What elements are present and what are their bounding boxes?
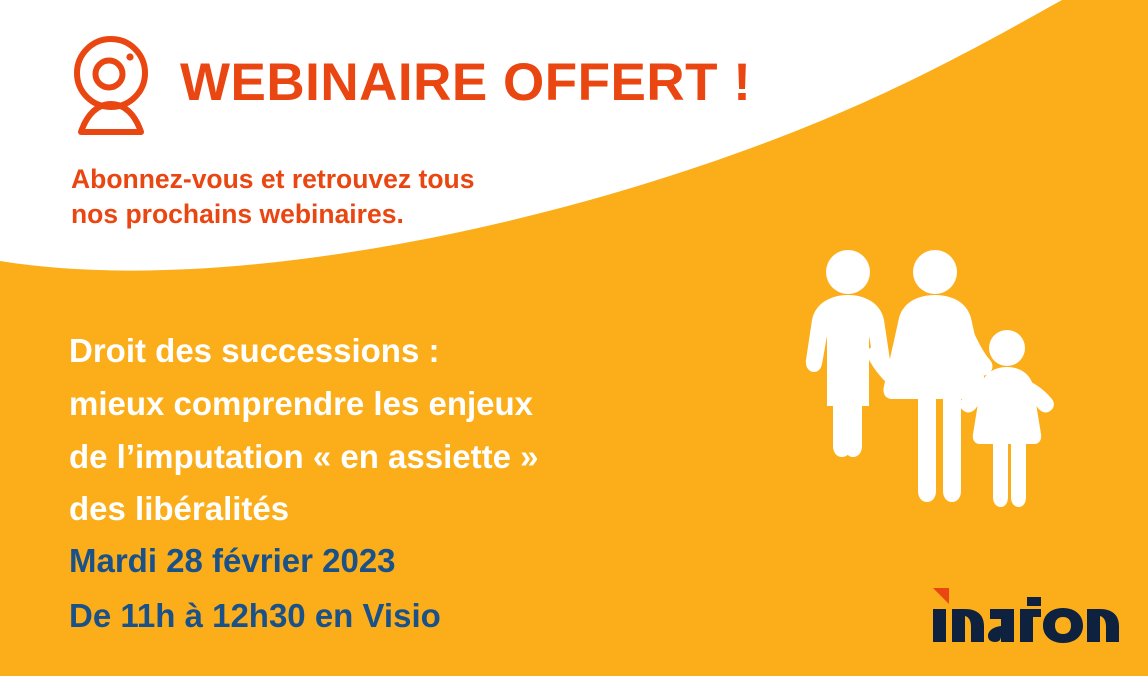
inafon-logo: [929, 584, 1119, 646]
page-title: WEBINAIRE OFFERT !: [180, 56, 751, 115]
webinar-title-line-4: des libéralités: [69, 483, 538, 536]
subheading-line-1: Abonnez-vous et retrouvez tous: [71, 162, 474, 197]
header: WEBINAIRE OFFERT !: [68, 33, 751, 137]
family-silhouette-icon: [787, 248, 1077, 516]
webinar-time: De 11h à 12h30 en Visio: [69, 588, 441, 643]
webinar-date: Mardi 28 février 2023: [69, 533, 441, 588]
subheading: Abonnez-vous et retrouvez tous nos proch…: [71, 162, 474, 232]
webcam-icon: [68, 33, 154, 137]
webinar-title-line-3: de l’imputation « en assiette »: [69, 431, 538, 484]
webinar-title-line-1: Droit des successions :: [69, 325, 538, 378]
webinar-title-line-2: mieux comprendre les enjeux: [69, 378, 538, 431]
webinar-promo-banner: WEBINAIRE OFFERT ! Abonnez-vous et retro…: [0, 0, 1148, 676]
webinar-schedule: Mardi 28 février 2023 De 11h à 12h30 en …: [69, 533, 441, 644]
subheading-line-2: nos prochains webinaires.: [71, 197, 474, 232]
webinar-title: Droit des successions : mieux comprendre…: [69, 325, 538, 536]
inafon-logo-svg: [929, 584, 1119, 646]
logo-accent-triangle: [933, 588, 949, 604]
